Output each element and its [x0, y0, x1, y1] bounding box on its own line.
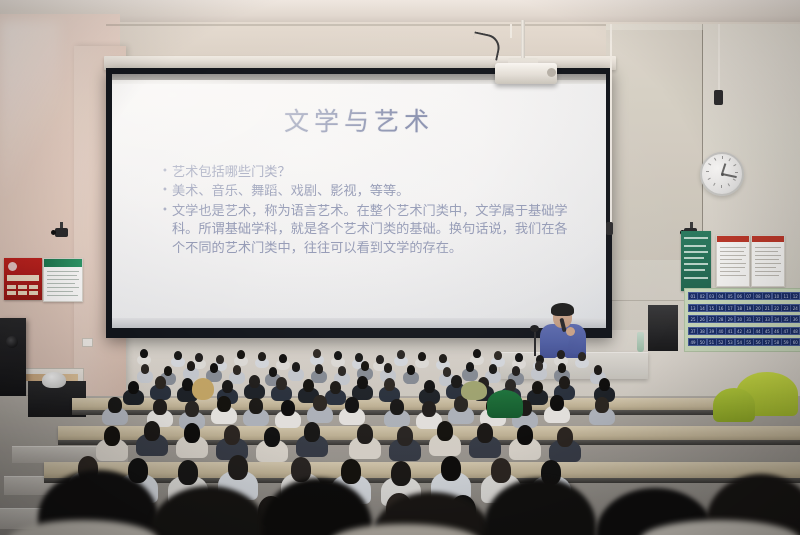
- wall-socket-icon: [82, 338, 93, 347]
- slide-content: 文学与艺术 艺术包括哪些门类？ 美术、音乐、舞蹈、戏剧、影视，等等。 文学也是艺…: [112, 80, 606, 328]
- audience-member-head: [195, 353, 203, 362]
- audience-member-head: [557, 350, 565, 359]
- audience-member-head: [258, 352, 266, 361]
- audience-member-head: [144, 421, 161, 441]
- hanging-cord: [610, 24, 612, 224]
- wall-light-sheen: [0, 20, 60, 200]
- poster-header-band: [44, 259, 82, 267]
- loudspeaker-right: [648, 305, 678, 351]
- wall-poster-white-green: [43, 258, 83, 302]
- key-slot[interactable]: 36: [790, 315, 800, 323]
- notice-header: [752, 236, 784, 242]
- right-wall-panel: [606, 30, 703, 260]
- lecture-hall-photo: 文学与艺术 艺术包括哪些门类？ 美术、音乐、舞蹈、戏剧、影视，等等。 文学也是艺…: [0, 0, 800, 535]
- audience-member-head: [128, 381, 139, 394]
- audience-member-head: [517, 425, 534, 445]
- audience-member-head: [578, 352, 586, 361]
- poster-band: [7, 275, 39, 281]
- audience-member-head: [153, 399, 166, 415]
- audience-member-head: [491, 458, 512, 483]
- audience-member-head: [249, 398, 262, 414]
- slide-bullet: 美术、音乐、舞蹈、戏剧、影视，等等。: [162, 183, 572, 201]
- loudspeaker-left: [0, 318, 26, 396]
- ceiling-cable: [106, 24, 606, 26]
- cord-weight: [714, 90, 723, 105]
- cord-weight: [606, 222, 613, 235]
- key-slot[interactable]: 24: [790, 304, 800, 312]
- desk-microphone-icon: [530, 325, 539, 332]
- audience-member-head: [424, 380, 435, 393]
- audience-member-head: [391, 461, 412, 486]
- desk-edge: [44, 478, 800, 483]
- projector-lens-icon: [547, 68, 556, 77]
- audience-member-head: [304, 422, 321, 442]
- slide-bullet: 艺术包括哪些门类？: [162, 164, 572, 182]
- audience-member-head: [264, 427, 281, 447]
- audience-member-head: [473, 349, 481, 358]
- audience-member-head: [155, 376, 166, 389]
- key-slot[interactable]: 60: [790, 338, 800, 346]
- audience-member-head: [595, 397, 608, 413]
- audience-member-head: [557, 427, 574, 447]
- audience-member-head: [355, 353, 363, 362]
- audience-member-head: [228, 455, 249, 480]
- audience-member-head: [216, 355, 224, 364]
- audience-member-head: [397, 350, 405, 359]
- key-slot[interactable]: 12: [790, 292, 800, 300]
- speaker-cone-icon: [6, 336, 18, 348]
- poster-logo-icon: [8, 262, 17, 271]
- audience-member-head: [515, 353, 523, 362]
- audience-member-head: [550, 395, 563, 411]
- audience-member-head: [439, 354, 447, 363]
- numbered-key-board[interactable]: 0102030405060708091011121314151617181920…: [684, 288, 800, 352]
- audience-member-head: [104, 426, 121, 446]
- audience-member-head: [108, 397, 121, 413]
- audience-member-head: [422, 401, 435, 417]
- audience-member-head: [330, 381, 341, 394]
- clock-center: [721, 173, 724, 176]
- audience-member-head: [384, 378, 395, 391]
- projector-mount-rod: [521, 20, 525, 62]
- audience-member-head: [599, 378, 610, 391]
- audience-member-head: [182, 378, 193, 391]
- audience-member-head: [279, 354, 287, 363]
- desk-microphone-stand: [534, 330, 536, 356]
- audience-member-head: [313, 349, 321, 358]
- audience-member-head: [224, 425, 241, 445]
- clock-minute-hand: [722, 173, 737, 178]
- audience-member-head: [451, 375, 462, 388]
- audience-member-head: [217, 396, 230, 412]
- yellow-green-jacket: [713, 388, 755, 422]
- audience-member-head: [532, 381, 543, 394]
- hanging-cord: [718, 24, 720, 92]
- wall-notice-white: [716, 235, 750, 287]
- wall-clock: [700, 152, 744, 196]
- hanging-cord: [510, 24, 512, 38]
- audience-member-head: [341, 459, 362, 484]
- security-camera-icon: [55, 228, 68, 237]
- audience-member-head: [174, 351, 182, 360]
- audience-member-head: [313, 395, 326, 411]
- audience-member-head: [441, 456, 462, 481]
- presenter-hand: [566, 327, 575, 336]
- audience-member-head: [559, 376, 570, 389]
- student-desk-row: [44, 462, 800, 478]
- water-bottle: [637, 332, 644, 352]
- green-bucket-hat: [461, 381, 487, 400]
- audience-member-head: [249, 375, 260, 388]
- audience-member-head: [345, 397, 358, 413]
- audience-member-head: [494, 351, 502, 360]
- audience-member-head: [281, 400, 294, 416]
- audience-member-head: [178, 460, 199, 485]
- audience-member-head: [357, 424, 374, 444]
- audience-member-head: [184, 423, 201, 443]
- audience-member-head: [397, 426, 414, 446]
- subwoofer-dome: [42, 372, 66, 388]
- wall-notice-green: [681, 231, 711, 291]
- audience-member-head: [276, 377, 287, 390]
- slide-bullet: 文学也是艺术，称为语言艺术。在整个艺术门类中，文学属于基础学科。所谓基础学科，就…: [162, 203, 572, 259]
- audience-member-head: [418, 352, 426, 361]
- presenter-hair: [551, 303, 574, 316]
- green-printed-shirt: [487, 390, 523, 418]
- wall-notice-white: [751, 235, 785, 287]
- slide-body: 艺术包括哪些门类？ 美术、音乐、舞蹈、戏剧、影视，等等。 文学也是艺术，称为语言…: [162, 164, 572, 260]
- audience-member-head: [303, 379, 314, 392]
- audience-member-head: [390, 399, 403, 415]
- audience-member-head: [192, 378, 214, 400]
- notice-header: [717, 236, 749, 242]
- audience-member-head: [185, 401, 198, 417]
- audience-member-head: [437, 421, 454, 441]
- audience-member-head: [334, 351, 342, 360]
- slide-title: 文学与艺术: [112, 102, 606, 138]
- audience-member-head: [357, 376, 368, 389]
- key-slot[interactable]: 48: [790, 327, 800, 335]
- wall-poster-red: [4, 258, 42, 300]
- audience-member-head: [477, 423, 494, 443]
- audience-member-head: [376, 355, 384, 364]
- audience-member-head: [222, 380, 233, 393]
- audience-member-head: [140, 349, 148, 358]
- audience-member-head: [237, 350, 245, 359]
